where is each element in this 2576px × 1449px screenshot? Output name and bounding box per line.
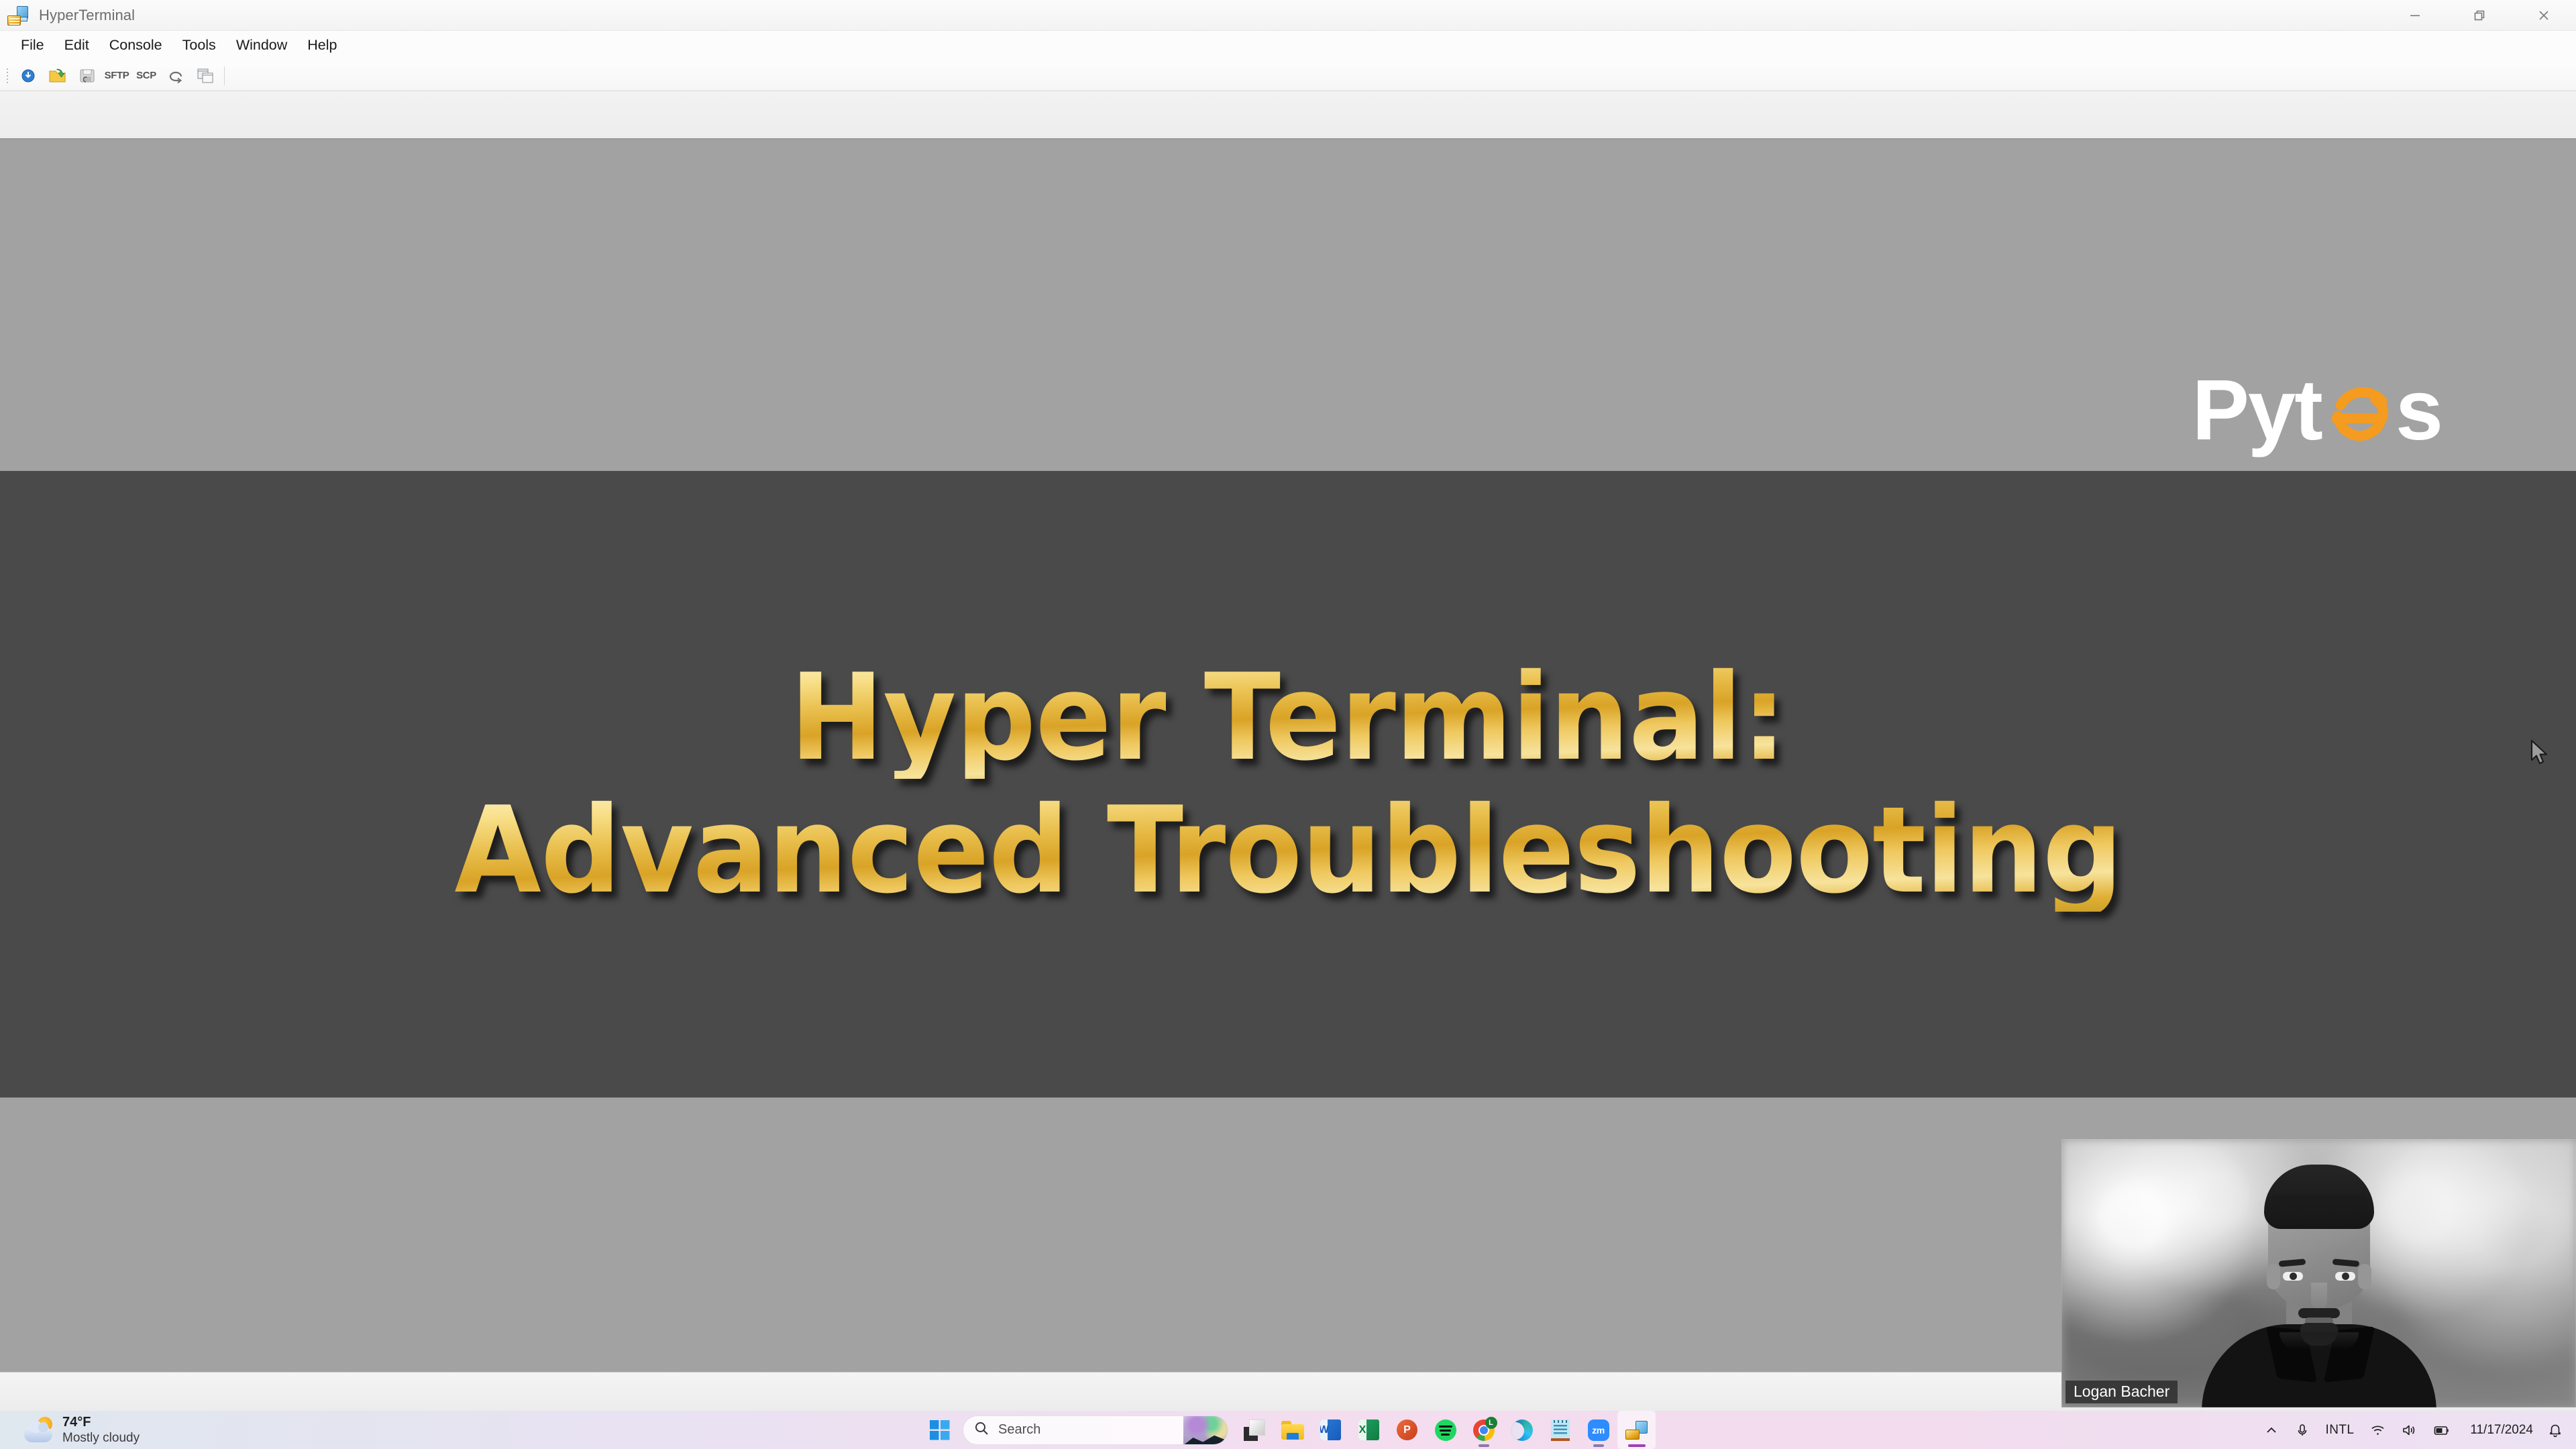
menu-item-file[interactable]: File	[11, 34, 54, 57]
webcam-overlay[interactable]: Logan Bacher	[2061, 1139, 2576, 1407]
volume-icon[interactable]	[2394, 1411, 2425, 1449]
wifi-icon[interactable]	[2362, 1411, 2394, 1449]
taskbar-center-group: Search W X P	[920, 1411, 1656, 1449]
weather-temperature: 74°F	[62, 1414, 140, 1430]
sftp-label: SFTP	[105, 70, 129, 81]
open-session-icon[interactable]	[43, 62, 72, 89]
weather-widget[interactable]: 74°F Mostly cloudy	[23, 1414, 140, 1446]
taskbar-app-task-view[interactable]	[1235, 1411, 1273, 1449]
sun-behind-cloud-icon	[23, 1417, 54, 1444]
slide-title-band: Hyper Terminal: Advanced Troubleshooting	[0, 471, 2576, 1097]
restore-icon[interactable]	[2447, 0, 2512, 31]
menu-item-edit[interactable]: Edit	[54, 34, 99, 57]
weather-condition: Mostly cloudy	[62, 1430, 140, 1446]
microphone-icon[interactable]	[2287, 1411, 2318, 1449]
search-input[interactable]: Search	[963, 1415, 1228, 1445]
menu-item-tools[interactable]: Tools	[172, 34, 226, 57]
window-title: HyperTerminal	[39, 7, 135, 24]
language-indicator[interactable]: INTL	[2318, 1411, 2363, 1449]
taskbar-app-chrome[interactable]: L	[1464, 1411, 1503, 1449]
sftp-button[interactable]: SFTP	[102, 62, 131, 89]
notepad-icon	[1551, 1419, 1570, 1441]
taskbar-app-excel[interactable]: X	[1350, 1411, 1388, 1449]
taskbar-app-file-explorer[interactable]	[1273, 1411, 1311, 1449]
zoom-glyph: zm	[1592, 1425, 1604, 1436]
zoom-icon: zm	[1588, 1419, 1609, 1441]
task-view-icon	[1244, 1419, 1265, 1441]
weather-text: 74°F Mostly cloudy	[62, 1414, 140, 1446]
taskbar-app-powerpoint[interactable]: P	[1388, 1411, 1426, 1449]
excel-glyph: X	[1358, 1419, 1366, 1440]
slide-headline-line2: Advanced Troubleshooting	[454, 790, 2122, 912]
hyperterminal-icon	[7, 4, 30, 27]
system-tray: INTL 11/17/2024	[2256, 1411, 2576, 1449]
chrome-icon: L	[1473, 1419, 1495, 1441]
pytes-logo: Pyt s	[2192, 368, 2442, 453]
window-titlebar: HyperTerminal	[0, 0, 2576, 31]
webcam-border	[2061, 1139, 2576, 1407]
battery-icon[interactable]	[2425, 1411, 2458, 1449]
close-icon[interactable]	[2512, 0, 2576, 31]
slide-headline-line1: Hyper Terminal:	[790, 657, 1786, 779]
taskbar-app-edge[interactable]	[1503, 1411, 1541, 1449]
menu-item-console[interactable]: Console	[99, 34, 172, 57]
powerpoint-icon: P	[1397, 1419, 1417, 1440]
word-icon: W	[1320, 1419, 1341, 1440]
taskbar-app-zoom[interactable]: zm	[1579, 1411, 1617, 1449]
powerpoint-glyph: P	[1403, 1424, 1411, 1436]
minimize-icon[interactable]	[2383, 0, 2447, 31]
toolbar-grip[interactable]	[4, 66, 11, 86]
chrome-profile-badge: L	[1485, 1417, 1497, 1429]
windows-start-icon[interactable]	[920, 1411, 959, 1449]
tile-windows-icon[interactable]	[191, 62, 220, 89]
mouse-cursor	[2529, 739, 2552, 771]
search-icon	[974, 1421, 989, 1439]
search-placeholder: Search	[998, 1422, 1040, 1438]
search-highlight-thumbnail[interactable]	[1183, 1416, 1228, 1445]
hyperterminal-taskbar-icon	[1625, 1419, 1648, 1441]
scp-label: SCP	[136, 70, 156, 81]
show-hidden-icons-icon[interactable]	[2256, 1411, 2287, 1449]
slide-top-band: Pyt s	[0, 140, 2576, 471]
spotify-icon	[1435, 1419, 1456, 1441]
menu-item-window[interactable]: Window	[226, 34, 297, 57]
taskbar-app-word[interactable]: W	[1311, 1411, 1350, 1449]
taskbar-running-indicator	[1479, 1444, 1489, 1447]
file-explorer-icon	[1281, 1421, 1304, 1440]
new-connection-icon[interactable]	[13, 62, 43, 89]
taskbar-running-indicator	[1593, 1444, 1604, 1447]
edge-icon	[1511, 1419, 1533, 1441]
notification-bell-icon[interactable]	[2540, 1411, 2567, 1449]
clock-date[interactable]: 11/17/2024	[2458, 1411, 2540, 1449]
windows-taskbar: 74°F Mostly cloudy Search	[0, 1411, 2576, 1449]
taskbar-active-indicator	[1628, 1444, 1646, 1447]
logo-text-before: Pyt	[2192, 368, 2322, 453]
session-tab-strip	[0, 91, 2576, 140]
menu-item-help[interactable]: Help	[297, 34, 347, 57]
excel-icon: X	[1358, 1419, 1379, 1440]
taskbar-app-spotify[interactable]	[1426, 1411, 1464, 1449]
reconnect-icon[interactable]	[161, 62, 191, 89]
scp-button[interactable]: SCP	[131, 62, 161, 89]
e-swirl-mark	[2323, 376, 2394, 445]
logo-text-after: s	[2396, 368, 2442, 453]
save-session-icon[interactable]	[72, 62, 102, 89]
toolbar-separator	[224, 66, 225, 85]
window-controls	[2383, 0, 2576, 31]
menu-bar: File Edit Console Tools Window Help	[0, 31, 2576, 60]
toolbar: SFTP SCP	[0, 60, 2576, 91]
taskbar-app-hyperterminal[interactable]	[1617, 1411, 1656, 1449]
word-glyph: W	[1320, 1419, 1328, 1440]
taskbar-app-notepad[interactable]	[1541, 1411, 1579, 1449]
